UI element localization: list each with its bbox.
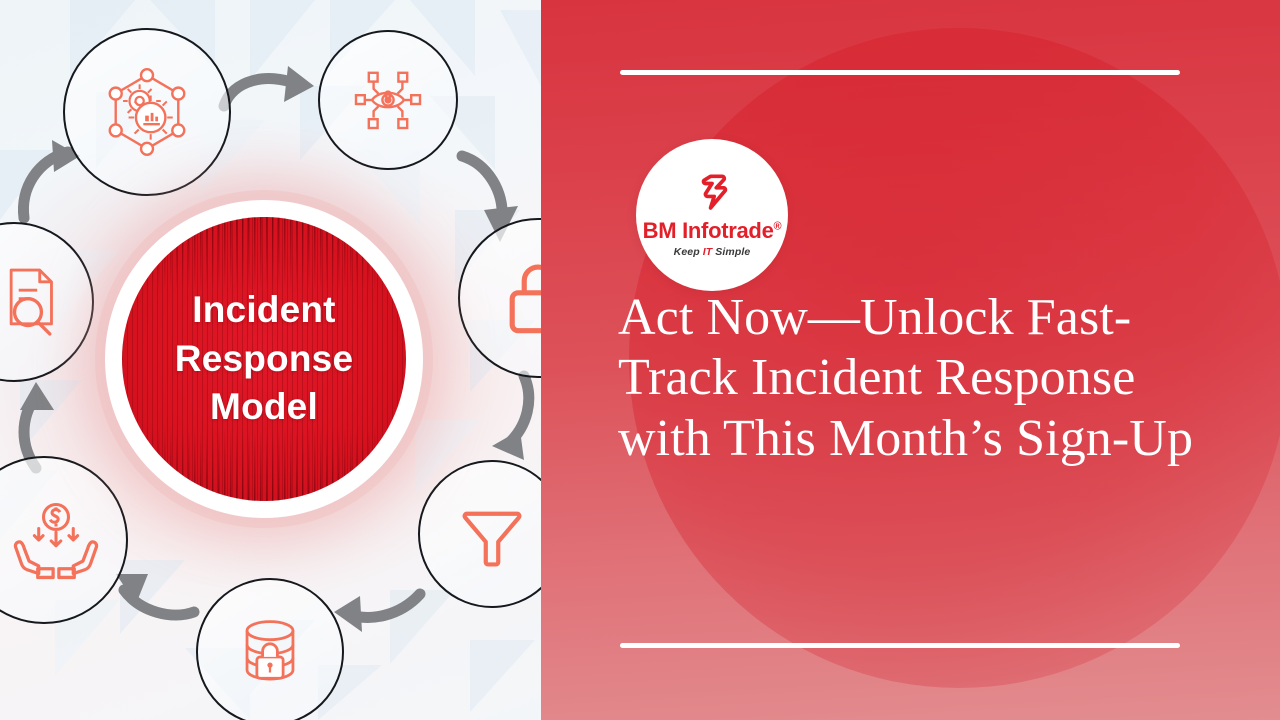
arrow-bottom-right-to-bottom xyxy=(330,578,426,640)
center-label-line-1: Incident xyxy=(175,286,353,335)
padlock-icon xyxy=(495,255,541,341)
tagline-suffix: Simple xyxy=(712,246,750,258)
center-circle-label: Incident Response Model xyxy=(175,286,353,432)
logo-name: BM Infotrade xyxy=(643,218,774,243)
promo-banner: Incident Response Model BM Infotrade® Ke… xyxy=(0,0,1280,720)
stage-bubble-recovery[interactable] xyxy=(196,578,344,720)
eye-network-icon xyxy=(348,60,428,140)
database-lock-icon xyxy=(229,611,311,693)
center-circle-fill: Incident Response Model xyxy=(122,217,406,501)
stage-bubble-cost-recovery[interactable] xyxy=(0,456,128,624)
logo-tagline: Keep IT Simple xyxy=(674,246,751,258)
logo-badge: BM Infotrade® Keep IT Simple xyxy=(636,139,788,291)
stage-bubble-analysis[interactable] xyxy=(0,222,94,382)
headline: Act Now—Unlock Fast-Track Incident Respo… xyxy=(618,288,1203,469)
arrow-bottom-to-bottom-left xyxy=(110,568,206,632)
tagline-highlight: IT xyxy=(703,246,713,258)
divider-bottom xyxy=(620,643,1180,648)
center-label-line-3: Model xyxy=(175,383,353,432)
logo-wordmark: BM Infotrade® xyxy=(643,220,782,242)
tagline-prefix: Keep xyxy=(674,246,703,258)
promo-panel: BM Infotrade® Keep IT Simple Act Now—Unl… xyxy=(541,0,1280,720)
arrow-top-left-to-top-right xyxy=(218,62,318,128)
bm-lightning-mark-icon xyxy=(689,172,735,218)
network-gears-icon xyxy=(101,66,193,158)
hands-dollar-coin-icon xyxy=(8,492,104,588)
center-label-line-2: Response xyxy=(175,335,353,384)
funnel-icon xyxy=(453,495,531,573)
stage-bubble-eradication[interactable] xyxy=(418,460,541,608)
divider-top xyxy=(620,70,1180,75)
registered-symbol: ® xyxy=(774,221,782,233)
magnifier-document-icon xyxy=(0,260,75,344)
stage-bubble-detection[interactable] xyxy=(318,30,458,170)
stage-bubble-preparation[interactable] xyxy=(63,28,231,196)
diagram-panel: Incident Response Model xyxy=(0,0,541,720)
center-circle: Incident Response Model xyxy=(105,200,423,518)
arrow-right-to-bottom-right xyxy=(490,370,541,462)
